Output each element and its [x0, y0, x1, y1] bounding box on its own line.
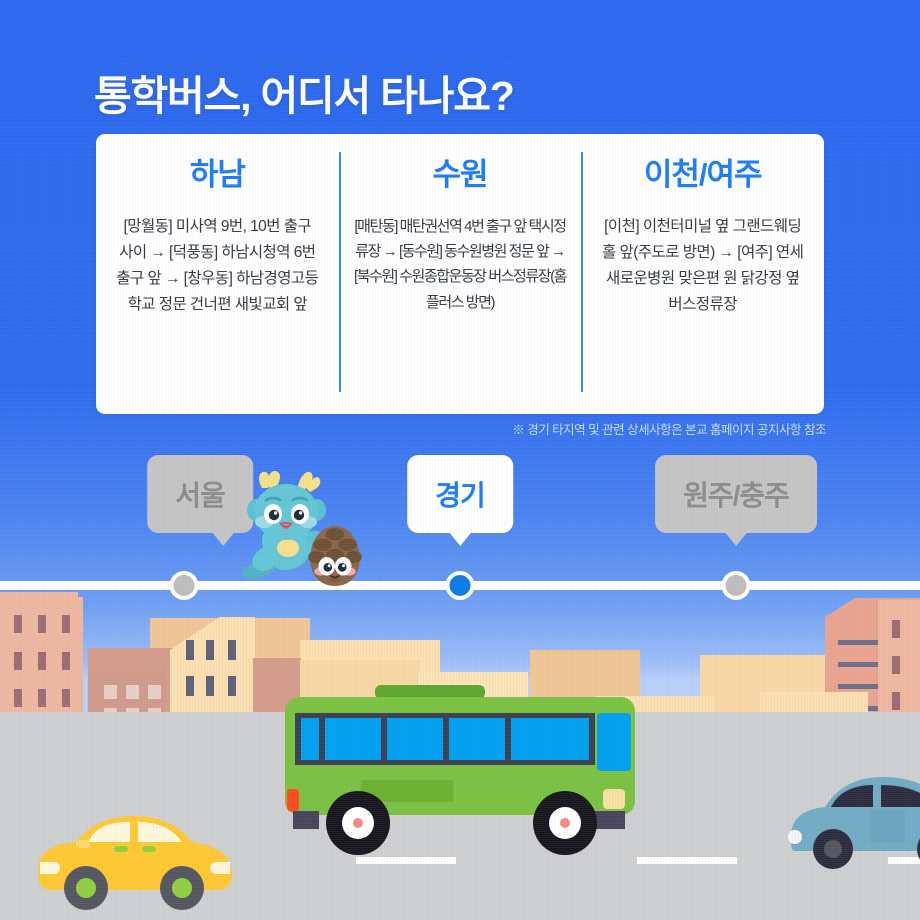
timeline-node-wonju-chungju[interactable] [722, 571, 751, 600]
school-bus [285, 685, 635, 860]
yellow-car [30, 800, 240, 910]
route-column-body: [망월동] 미사역 9번, 10번 출구 사이 → [덕풍동] 하남시청역 6번… [110, 214, 325, 318]
route-column-title: 수원 [353, 158, 568, 192]
region-tab-label: 서울 [175, 474, 225, 514]
page-title: 통학버스, 어디서 타나요? [94, 62, 514, 122]
route-column-icheon-yeoju: 이천/여주 [이천] 이천터미널 옆 그랜드웨딩홀 앞(주도로 방면) → [여… [581, 134, 824, 414]
region-tab-label: 원주/충주 [683, 474, 789, 514]
route-column-title: 하남 [110, 158, 325, 192]
infographic-canvas: 서울 경기 원주/충주 [0, 0, 920, 920]
mascot-group [232, 466, 377, 586]
blue-car [785, 765, 920, 870]
route-column-body: [매탄동] 매탄권선역 4번 출구 앞 택시정류장 → [동수원] 동수원병원 … [353, 214, 568, 315]
timeline-node-seoul[interactable] [170, 571, 199, 600]
region-tab-label: 경기 [435, 474, 485, 514]
lane-marking [637, 857, 737, 864]
bus-stop-info-card: 하남 [망월동] 미사역 9번, 10번 출구 사이 → [덕풍동] 하남시청역… [96, 134, 824, 414]
route-column-title: 이천/여주 [595, 158, 810, 192]
region-tab-wonju-chungju[interactable]: 원주/충주 [655, 455, 817, 533]
route-column-body: [이천] 이천터미널 옆 그랜드웨딩홀 앞(주도로 방면) → [여주] 연세새… [595, 214, 810, 318]
region-tab-gyeonggi[interactable]: 경기 [407, 455, 513, 533]
footnote-text: ※ 경기 타지역 및 관련 상세사항은 본교 홈페이지 공지사항 참조 [512, 419, 826, 438]
timeline-node-gyeonggi[interactable] [446, 571, 475, 600]
route-column-suwon: 수원 [매탄동] 매탄권선역 4번 출구 앞 택시정류장 → [동수원] 동수원… [339, 134, 582, 414]
brown-pinecone-mascot [304, 524, 366, 588]
route-column-hanam: 하남 [망월동] 미사역 9번, 10번 출구 사이 → [덕풍동] 하남시청역… [96, 134, 339, 414]
